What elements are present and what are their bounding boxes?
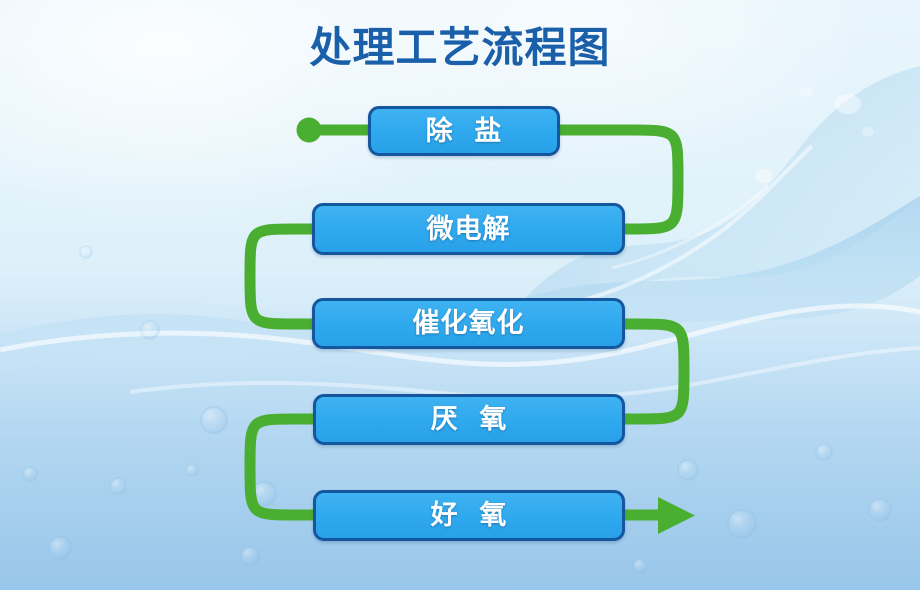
flow-step-5-label: 好 氧: [431, 502, 508, 529]
connector-step-2-to-step-3: [250, 229, 318, 324]
connector-step-3-to-step-4: [620, 324, 684, 419]
flow-step-3-label: 催化氧化: [413, 310, 525, 337]
connector-step-4-to-step-5: [250, 419, 318, 515]
flow-step-2-label: 微电解: [427, 216, 511, 243]
start-dot-icon: [297, 118, 322, 143]
arrow-right-icon: [658, 497, 695, 534]
flowchart-canvas: 处理工艺流程图 除 盐 微电解 催化氧化 厌 氧: [0, 0, 920, 590]
flow-step-3[interactable]: 催化氧化: [312, 298, 625, 349]
flow-step-2[interactable]: 微电解: [312, 203, 625, 255]
flow-step-4-label: 厌 氧: [431, 406, 508, 433]
flow-step-4[interactable]: 厌 氧: [313, 394, 625, 445]
flow-step-1[interactable]: 除 盐: [368, 106, 560, 156]
flow-step-1-label: 除 盐: [426, 118, 503, 145]
flow-step-5[interactable]: 好 氧: [313, 490, 625, 541]
